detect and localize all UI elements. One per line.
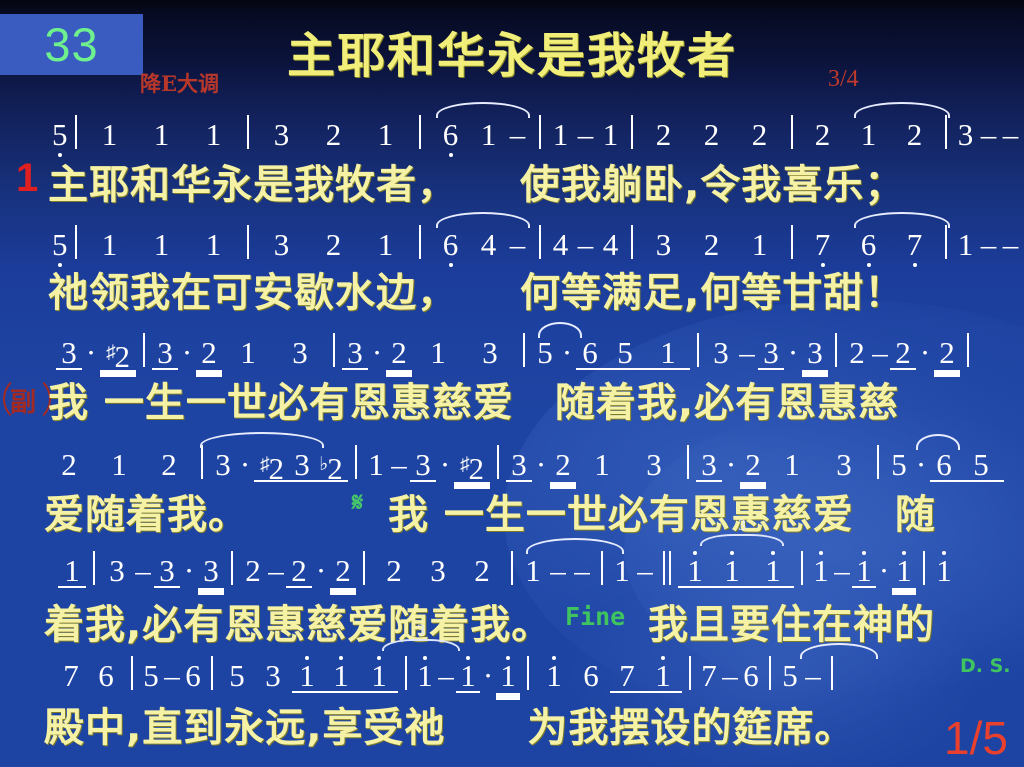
note: 3 xyxy=(102,554,132,588)
note: 2 xyxy=(240,554,266,588)
barline xyxy=(835,333,837,367)
note: 1 xyxy=(810,554,832,588)
note: 3 xyxy=(640,228,688,262)
barline xyxy=(75,115,77,149)
note: – xyxy=(570,554,594,588)
note: 3 xyxy=(696,448,722,482)
note: 7 xyxy=(54,659,88,693)
triplet-label: 3 xyxy=(414,622,428,640)
note-dot: · xyxy=(558,336,576,370)
note: 1 xyxy=(678,554,712,588)
barline xyxy=(201,445,203,479)
note: 5 xyxy=(604,336,646,370)
barline xyxy=(419,225,421,259)
note: 3 xyxy=(506,448,532,482)
note: – xyxy=(634,554,656,588)
note: 2 xyxy=(330,554,356,588)
notation-line-1: 5 1 1 1 3 2 1 6 1 – 1 – 1 2 2 2 2 1 2 xyxy=(0,104,1024,152)
key-signature: 降E大调 xyxy=(140,68,219,98)
note-dot: · xyxy=(480,659,496,693)
page-indicator: 1/5 xyxy=(944,711,1008,765)
note: 4 xyxy=(548,228,574,262)
note: 1 xyxy=(360,118,412,152)
lyrics-line-3-text: 我 一生一世必有恩惠慈爱 随着我,必有恩惠慈 xyxy=(48,370,899,428)
note: 3 xyxy=(256,228,308,262)
note: 5 xyxy=(532,336,558,370)
double-barline xyxy=(663,551,671,585)
note: 3 xyxy=(154,554,180,588)
lyrics-line-5: 着我,必有恩惠慈爱随着我。 Fine 我且要住在神的 xyxy=(0,592,1024,648)
barline xyxy=(523,333,525,367)
note: 1 xyxy=(610,554,634,588)
lyrics-line-3: 副 我 一生一世必有恩惠慈爱 随着我,必有恩惠慈 xyxy=(0,370,1024,426)
note: 2 xyxy=(196,336,222,370)
note: 3 xyxy=(274,336,326,370)
note: 2 xyxy=(688,118,736,152)
note: 1 xyxy=(412,336,464,370)
lyrics-line-1: 1 主耶和华永是我牧者， 使我躺卧,令我喜乐； xyxy=(0,152,1024,208)
note: – xyxy=(574,228,598,262)
note: 3 xyxy=(56,336,82,370)
note: – xyxy=(436,659,456,693)
barline xyxy=(131,656,133,690)
barline xyxy=(967,333,969,367)
note: 1 xyxy=(322,659,360,693)
note: 1 xyxy=(188,118,240,152)
note: 3 xyxy=(290,448,314,482)
note: ♯2 xyxy=(454,448,490,482)
note: 3 xyxy=(254,659,292,693)
fine-label: Fine xyxy=(565,602,625,631)
barline xyxy=(527,656,529,690)
note: 2 xyxy=(550,448,576,482)
note: 1 xyxy=(712,554,752,588)
note: 7 xyxy=(610,659,644,693)
note: 6 xyxy=(88,659,124,693)
note: 1 xyxy=(576,448,628,482)
triplet-bracket: 3 xyxy=(700,534,784,546)
note: 3 xyxy=(342,336,368,370)
note: 2 xyxy=(688,228,736,262)
barline xyxy=(631,225,633,259)
note: 2 xyxy=(460,554,504,588)
note: 2 xyxy=(890,336,916,370)
note: 1 xyxy=(496,659,520,693)
barline xyxy=(631,115,633,149)
ds-label: D. S. xyxy=(960,655,1011,677)
note: 1 xyxy=(456,659,480,693)
note: 6 xyxy=(572,659,610,693)
note: 1 xyxy=(644,659,682,693)
triplet-bracket: 3 xyxy=(382,639,460,651)
note: 2 xyxy=(144,448,194,482)
note: 2 xyxy=(640,118,688,152)
notation-line-3: 3 · ♯2 3 · 2 1 3 3 · 2 1 3 5 · 6 5 1 3 –… xyxy=(0,322,1024,370)
note: 1 xyxy=(548,118,574,152)
note: 1 xyxy=(364,448,388,482)
barline xyxy=(697,333,699,367)
barline xyxy=(945,115,947,149)
note: 1 xyxy=(222,336,274,370)
note: 6 xyxy=(576,336,604,370)
barline xyxy=(923,551,925,585)
barline xyxy=(211,656,213,690)
note-dot: · xyxy=(912,448,930,482)
lyrics-line-6-text: 殿中,直到永远,享受祂 为我摆设的筵席。 xyxy=(44,695,855,753)
note: 1 xyxy=(58,554,86,588)
note: 2 xyxy=(844,336,870,370)
sharp-icon: ♯ xyxy=(260,448,270,482)
note: – xyxy=(1000,228,1022,262)
note: ♯2 xyxy=(100,336,136,370)
note: 2 xyxy=(934,336,960,370)
lyrics-line-4-text-a: 爱随着我。 xyxy=(44,482,249,540)
note: 1 xyxy=(736,228,784,262)
note: 6 xyxy=(428,118,474,152)
notation-line-2: 5 1 1 1 3 2 1 6 4 – 4 – 4 3 2 1 7 6 7 xyxy=(0,214,1024,262)
note: 3 xyxy=(758,336,784,370)
note: 3 xyxy=(628,448,680,482)
note: 1 xyxy=(188,228,240,262)
note: 1 xyxy=(598,118,624,152)
lyrics-line-5-text-a: 着我,必有恩惠慈爱随着我。 xyxy=(44,592,552,650)
note: 1 xyxy=(752,554,794,588)
note: 1 xyxy=(536,659,572,693)
barline xyxy=(801,551,803,585)
barline xyxy=(93,551,95,585)
note: 2 xyxy=(892,118,938,152)
note: – xyxy=(266,554,286,588)
barline xyxy=(539,115,541,149)
note: 1 xyxy=(852,554,876,588)
barline xyxy=(511,551,513,585)
barline xyxy=(831,656,833,690)
note: ♯2 xyxy=(254,448,290,482)
note: 5 xyxy=(778,659,802,693)
note: 5 xyxy=(52,228,68,262)
note: 1 xyxy=(846,118,892,152)
note: 6 xyxy=(740,659,762,693)
note: 5 xyxy=(958,448,1004,482)
note: 6 xyxy=(182,659,204,693)
barline xyxy=(877,445,879,479)
note: 3 xyxy=(210,448,236,482)
note: 1 xyxy=(136,118,188,152)
note: 6 xyxy=(428,228,474,262)
barline xyxy=(601,551,603,585)
note: 4 xyxy=(474,228,504,262)
note-dot: · xyxy=(916,336,934,370)
note: 5 xyxy=(886,448,912,482)
lyrics-line-1-text: 主耶和华永是我牧者， 使我躺卧,令我喜乐； xyxy=(48,152,905,210)
lyrics-line-4-text-b: 我 一生一世必有恩惠慈爱 随 xyxy=(388,482,936,540)
note: 1 xyxy=(646,336,690,370)
barline xyxy=(539,225,541,259)
notation-line-5: 1 3 – 3 · 3 2 – 2 · 2 2 3 2 1 – – 1 – 1 xyxy=(0,540,1024,588)
barline xyxy=(419,115,421,149)
note: 2 xyxy=(44,448,94,482)
note: – xyxy=(504,228,532,262)
note: 7 xyxy=(698,659,720,693)
barline xyxy=(405,656,407,690)
note: – xyxy=(978,228,1000,262)
note: 1 xyxy=(414,659,436,693)
note: 2 xyxy=(736,118,784,152)
note: 1 xyxy=(474,118,504,152)
note: 2 xyxy=(386,336,412,370)
note: 1 xyxy=(360,659,398,693)
note: – xyxy=(574,118,598,152)
note: 1 xyxy=(892,554,916,588)
note: 3 xyxy=(416,554,460,588)
note: 4 xyxy=(598,228,624,262)
note: 5 xyxy=(220,659,254,693)
note: – xyxy=(388,448,410,482)
note: 3 xyxy=(954,118,978,152)
lyrics-line-6: 殿中,直到永远,享受祂 为我摆设的筵席。 xyxy=(0,695,1024,751)
barline xyxy=(247,115,249,149)
triplet-label: 3 xyxy=(735,517,749,535)
notation-line-4: 2 1 2 3 · ♯2 3 ♭2 1 – 3 · ♯2 3 · 2 1 3 3… xyxy=(0,434,1024,482)
barline xyxy=(769,656,771,690)
chorus-marker-ring xyxy=(3,375,51,423)
barline xyxy=(333,333,335,367)
lyrics-line-2-text: 祂领我在可安歇水边， 何等满足,何等甘甜！ xyxy=(48,260,905,318)
note: – xyxy=(1000,118,1022,152)
note: – xyxy=(978,118,1000,152)
note: – xyxy=(504,118,532,152)
note: 7 xyxy=(800,228,846,262)
time-signature: 3/4 xyxy=(828,66,859,93)
barline xyxy=(75,225,77,259)
note: – xyxy=(802,659,824,693)
note: 1 xyxy=(932,554,956,588)
segno-icon: 𝄋 xyxy=(352,488,364,519)
note: – xyxy=(870,336,890,370)
note: – xyxy=(162,659,182,693)
note: 1 xyxy=(136,228,188,262)
barline xyxy=(247,225,249,259)
sharp-icon: ♯ xyxy=(460,448,470,482)
note-dot: · xyxy=(876,554,892,588)
note: – xyxy=(832,554,852,588)
note: 1 xyxy=(84,118,136,152)
note: 1 xyxy=(954,228,978,262)
lyrics-line-2: 祂领我在可安歇水边， 何等满足,何等甘甜！ xyxy=(0,260,1024,316)
note: 3 xyxy=(802,336,828,370)
note: 1 xyxy=(766,448,818,482)
sharp-icon: ♯ xyxy=(106,336,116,370)
note: 5 xyxy=(140,659,162,693)
notation-line-6: 7 6 5 – 6 5 3 1 1 1 1 – 1 · 1 1 6 7 1 7 … xyxy=(0,645,1024,693)
barline xyxy=(687,445,689,479)
note: 3 xyxy=(256,118,308,152)
note-dot: · xyxy=(178,336,196,370)
note: 2 xyxy=(740,448,766,482)
note: 3 xyxy=(464,336,516,370)
note-dot: · xyxy=(784,336,802,370)
note: 2 xyxy=(286,554,312,588)
note-dot: · xyxy=(722,448,740,482)
note: 2 xyxy=(308,118,360,152)
barline xyxy=(945,225,947,259)
note-dot: · xyxy=(436,448,454,482)
note: 2 xyxy=(308,228,360,262)
note: 1 xyxy=(94,448,144,482)
note: 5 xyxy=(52,118,68,152)
note-dot: · xyxy=(312,554,330,588)
note: – xyxy=(736,336,758,370)
flat-icon: ♭ xyxy=(319,448,328,482)
note: 3 xyxy=(410,448,436,482)
barline xyxy=(355,445,357,479)
note: – xyxy=(132,554,154,588)
note: ♭2 xyxy=(314,448,348,482)
note: 3 xyxy=(152,336,178,370)
note: 6 xyxy=(846,228,892,262)
note: 1 xyxy=(84,228,136,262)
barline xyxy=(689,656,691,690)
note: 3 xyxy=(198,554,224,588)
note: 1 xyxy=(520,554,546,588)
note: 2 xyxy=(800,118,846,152)
lyrics-line-4: 爱随着我。 𝄋 我 一生一世必有恩惠慈爱 随 xyxy=(0,482,1024,538)
note: – xyxy=(546,554,570,588)
note: 6 xyxy=(930,448,958,482)
barline xyxy=(497,445,499,479)
barline xyxy=(791,115,793,149)
barline xyxy=(791,225,793,259)
hymn-slide: 33 主耶和华永是我牧者 降E大调 3/4 5 1 1 1 3 2 1 6 1 … xyxy=(0,0,1024,767)
note: 1 xyxy=(292,659,322,693)
note-dot: · xyxy=(82,336,100,370)
note: 3 xyxy=(706,336,736,370)
note: – xyxy=(720,659,740,693)
note: 7 xyxy=(892,228,938,262)
note: 1 xyxy=(360,228,412,262)
note-dot: · xyxy=(180,554,198,588)
note: 3 xyxy=(818,448,870,482)
verse-number: 1 xyxy=(16,156,39,201)
note-dot: · xyxy=(236,448,254,482)
chorus-marker: 副 xyxy=(10,382,37,419)
barline xyxy=(363,551,365,585)
note: 2 xyxy=(372,554,416,588)
note-dot: · xyxy=(532,448,550,482)
barline xyxy=(231,551,233,585)
note-dot: · xyxy=(368,336,386,370)
lyrics-line-5-text-b: 我且要住在神的 xyxy=(648,592,935,650)
barline xyxy=(143,333,145,367)
